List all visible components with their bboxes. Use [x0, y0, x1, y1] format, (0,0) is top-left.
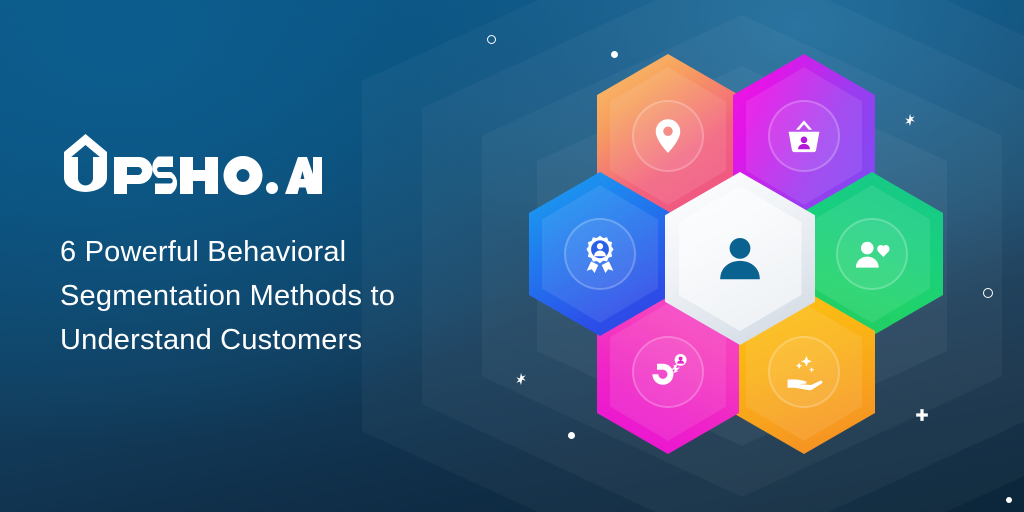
page-title: 6 Powerful Behavioral Segmentation Metho… [60, 230, 480, 362]
magnet-user-icon [647, 351, 689, 393]
person-icon [711, 230, 769, 288]
upshot-ai-logo[interactable] [60, 132, 322, 196]
person-heart-icon [851, 233, 893, 275]
content-column: 6 Powerful Behavioral Segmentation Metho… [60, 132, 480, 362]
shopping-basket-icon [783, 115, 825, 157]
hexagon-cluster [470, 0, 1024, 512]
hex-tile-occasion-shape [529, 172, 671, 336]
hex-tile-occasion[interactable] [529, 172, 671, 336]
award-badge-icon [579, 233, 621, 275]
hand-sparkle-icon [783, 351, 825, 393]
hex-tile-customer-center[interactable] [665, 172, 815, 345]
location-pin-icon [647, 115, 689, 157]
banner-canvas: 6 Powerful Behavioral Segmentation Metho… [0, 0, 1024, 512]
hex-tile-customer-shape [665, 172, 815, 345]
